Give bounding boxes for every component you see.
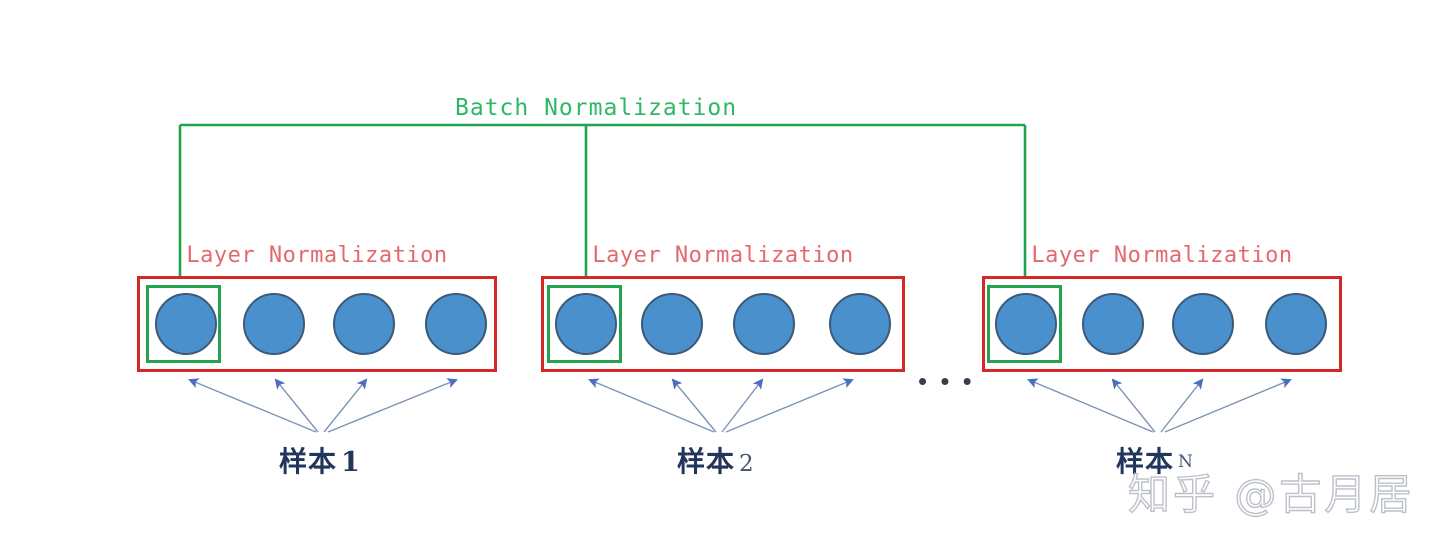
neuron	[1265, 293, 1327, 355]
neuron	[1082, 293, 1144, 355]
neuron	[333, 293, 395, 355]
neuron	[641, 293, 703, 355]
layer-norm-group-1: Layer Normalization	[137, 276, 497, 372]
sample-label-1: 样本1	[279, 440, 360, 480]
layer-norm-group-2: Layer Normalization	[541, 276, 905, 372]
batch-norm-selection-box	[146, 285, 221, 363]
sample-label-text: 样本	[677, 445, 735, 478]
neuron	[243, 293, 305, 355]
sample-label-2: 样本2	[677, 440, 754, 480]
layer-normalization-title: Layer Normalization	[137, 243, 497, 268]
batch-norm-selection-box	[987, 285, 1062, 363]
batch-norm-selection-box	[547, 285, 622, 363]
diagram-canvas: Batch Normalization Layer Normalization …	[0, 0, 1440, 541]
layer-norm-group-3: Layer Normalization	[982, 276, 1342, 372]
neuron	[733, 293, 795, 355]
neuron	[425, 293, 487, 355]
sample-label-index: 2	[739, 451, 754, 477]
neuron	[829, 293, 891, 355]
neuron	[1172, 293, 1234, 355]
watermark: 知乎 @古月居	[1128, 461, 1414, 522]
layer-normalization-title: Layer Normalization	[982, 243, 1342, 268]
sample-label-text: 样本	[279, 445, 337, 478]
sample-label-index: 1	[341, 447, 360, 478]
layer-normalization-title: Layer Normalization	[541, 243, 905, 268]
group-ellipsis: • • •	[918, 368, 975, 394]
batch-normalization-title: Batch Normalization	[455, 95, 725, 121]
